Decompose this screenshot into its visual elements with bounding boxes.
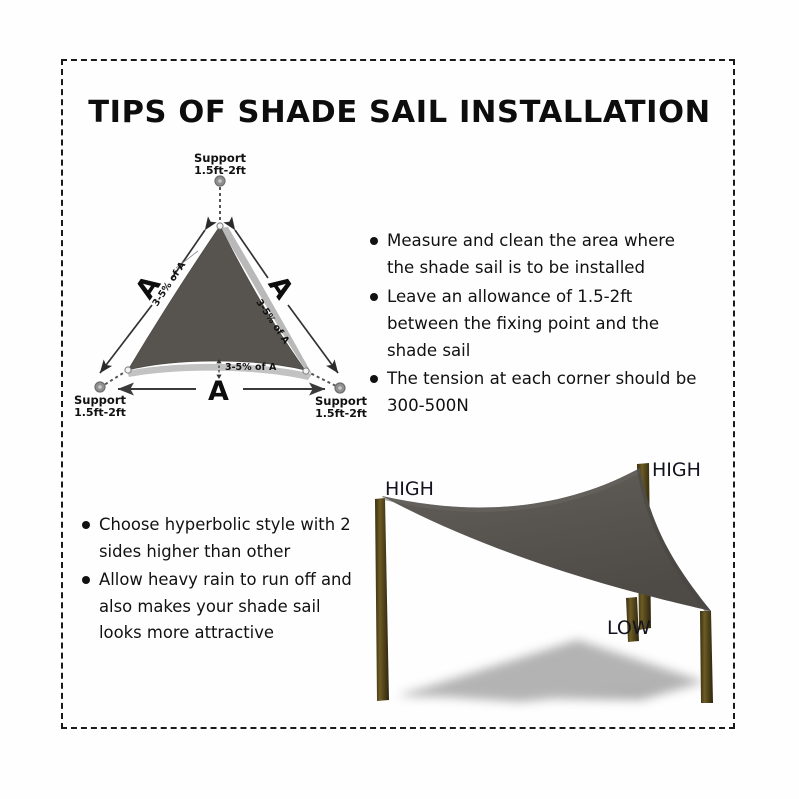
support-label-top-title: Support [194, 151, 246, 165]
tip-text: Leave an allowance of 1.5-2ft between th… [387, 284, 707, 365]
dimension-label-a-bottom: A [208, 376, 229, 407]
bullet-dot-icon [370, 375, 378, 383]
bullet-dot-icon [370, 237, 378, 245]
list-item: Measure and clean the area where the sha… [370, 228, 720, 282]
corner-label-left-high: HIGH [385, 478, 434, 500]
support-label-top-sub: 1.5ft-2ft [170, 165, 270, 178]
page-title: TIPS OF SHADE SAIL INSTALLATION [0, 95, 799, 130]
hyperbolic-tips-list: Choose hyperbolic style with 2 sides hig… [82, 512, 367, 649]
tip-text: Allow heavy rain to run off and also mak… [99, 567, 357, 647]
bullet-dot-icon [82, 521, 90, 529]
installation-tips-list: Measure and clean the area where the sha… [370, 228, 720, 422]
list-item: Leave an allowance of 1.5-2ft between th… [370, 284, 720, 365]
dimension-note-bottom: 3-5% of A [225, 362, 276, 373]
tip-text: Measure and clean the area where the sha… [387, 228, 707, 282]
bullet-dot-icon [370, 293, 378, 301]
infographic-page: TIPS OF SHADE SAIL INSTALLATION [0, 0, 799, 799]
tip-text: The tension at each corner should be 300… [387, 366, 707, 420]
list-item: Allow heavy rain to run off and also mak… [82, 567, 367, 647]
tip-text: Choose hyperbolic style with 2 sides hig… [99, 512, 357, 565]
support-label-top: Support 1.5ft-2ft [170, 152, 270, 178]
support-label-bl-title: Support [74, 393, 126, 407]
corner-label-right-high: HIGH [652, 459, 701, 481]
corner-label-front-low: LOW [607, 617, 651, 639]
list-item: The tension at each corner should be 300… [370, 366, 720, 420]
bullet-dot-icon [82, 576, 90, 584]
support-label-br-title: Support [315, 394, 367, 408]
support-label-bl-sub: 1.5ft-2ft [33, 407, 167, 420]
support-label-bottom-left: Support 1.5ft-2ft [33, 394, 167, 420]
list-item: Choose hyperbolic style with 2 sides hig… [82, 512, 367, 565]
